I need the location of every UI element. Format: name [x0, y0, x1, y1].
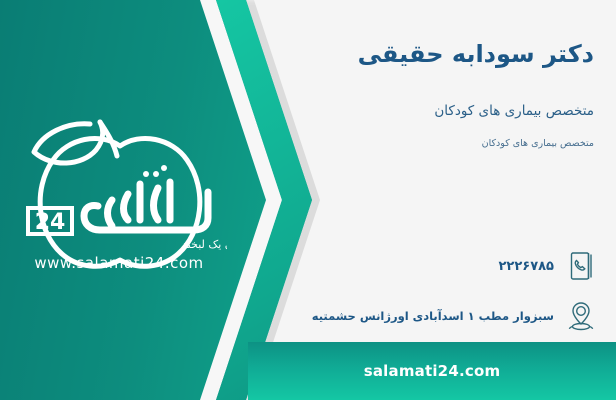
specialty-secondary: متخصص بیماری های کودکان: [482, 138, 594, 149]
svg-text:به راحتی یک لبخند: به راحتی یک لبخند: [182, 238, 227, 251]
contact-block: ۲۲۲۶۷۸۵ سبزوار مطب ۱ اسدآبادی اورژانس حش…: [306, 248, 598, 348]
salamati24-logo: 24 به راحتی یک لبخند www.salamati24.com: [12, 108, 227, 273]
contact-row-phone[interactable]: ۲۲۲۶۷۸۵: [306, 248, 598, 284]
phonebook-icon: [564, 248, 598, 284]
clinic-address: سبزوار مطب ۱ اسدآبادی اورژانس حشمتیه: [312, 309, 554, 323]
business-card: 24 به راحتی یک لبخند www.salamati24.com …: [0, 0, 616, 400]
logo-24-badge: 24: [28, 208, 72, 235]
footer-bar: salamati24.com: [248, 342, 616, 400]
map-pin-icon: [564, 298, 598, 334]
specialty-primary: متخصص بیماری های کودکان: [434, 103, 594, 119]
phone-number: ۲۲۲۶۷۸۵: [498, 259, 554, 274]
contact-row-address[interactable]: سبزوار مطب ۱ اسدآبادی اورژانس حشمتیه: [306, 298, 598, 334]
footer-website[interactable]: salamati24.com: [364, 362, 501, 380]
doctor-name: دکتر سودابه حقیقی: [358, 40, 594, 68]
svg-text:24: 24: [35, 210, 66, 235]
svg-text:www.salamati24.com: www.salamati24.com: [34, 254, 203, 272]
